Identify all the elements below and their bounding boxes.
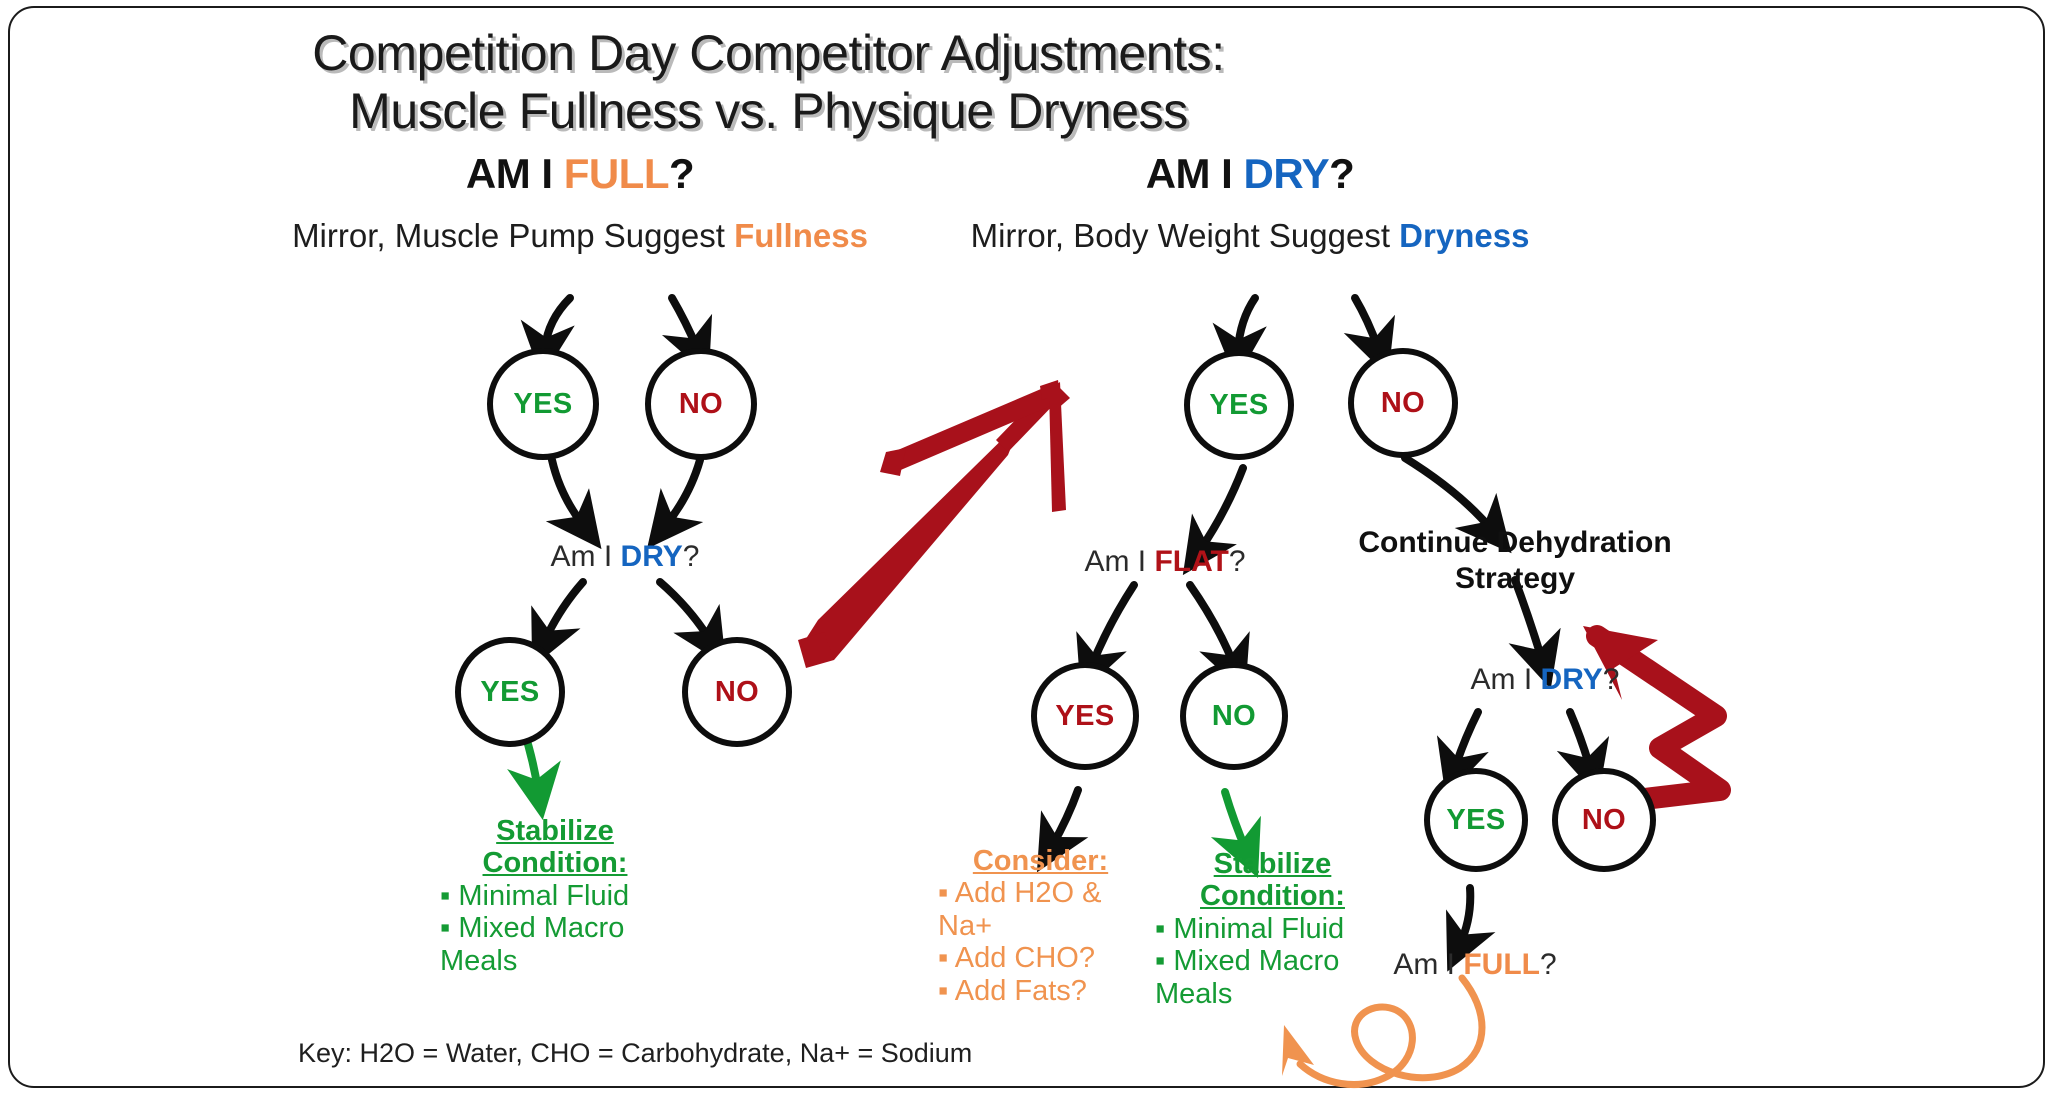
left-level2-no-label: NO [715,676,759,709]
right-flat-no-label: NO [1212,700,1256,733]
left-level2-yes-label: YES [480,676,539,709]
right-flat-no-circle[interactable]: NO [1180,662,1288,770]
right-dry-yes-circle[interactable]: YES [1424,768,1528,872]
consider-item-2: Na+ [938,910,1143,942]
right-branch-subtitle-prefix: Mirror, Body Weight Suggest [971,217,1400,254]
left-question-dry-keyword: DRY [621,540,683,573]
right-stabilize-item-3: Meals [1155,978,1390,1010]
left-branch-heading: AM I FULL? [330,150,830,198]
right-continue-dehydration-line-1: Continue Dehydration [1358,526,1671,559]
right-flat-yes-label: YES [1055,700,1114,733]
arrow-left-dry-to-no [660,582,710,640]
arrow-middle-yes-to-consider [1052,790,1078,846]
left-question-dry-prefix: Am I [551,540,621,573]
right-branch-heading-prefix: AM I [1146,150,1244,197]
arrow-right-sub-to-no [1355,298,1378,348]
left-outcome-item-2: ▪ Mixed Macro [440,912,670,944]
left-level1-yes-label: YES [513,388,572,421]
arrow-right-yes-to-full [1460,888,1470,944]
consider-item-4: ▪ Add Fats? [938,975,1143,1007]
arrow-right-dry-to-no [1570,712,1590,768]
right-question-dry-keyword: DRY [1541,663,1603,696]
consider-callout: Consider: ▪ Add H2O & Na+ ▪ Add CHO? ▪ A… [938,845,1143,1007]
right-branch-heading-keyword: DRY [1244,150,1330,197]
left-branch-heading-prefix: AM I [466,150,564,197]
arrow-right-flat-to-no [1190,585,1234,665]
right-question-flat-suffix: ? [1229,545,1246,578]
page-title: Competition Day Competitor Adjustments: … [0,24,1537,140]
left-branch-subtitle: Mirror, Muscle Pump Suggest Fullness [250,217,910,255]
right-stabilize-item-2: ▪ Mixed Macro [1155,945,1390,977]
infographic-canvas: Competition Day Competitor Adjustments: … [0,0,2053,1096]
arrow-left-sub-to-yes [545,298,570,348]
arrow-right-yes-to-flat [1200,468,1243,550]
right-question-flat: Am I FLAT? [1040,545,1290,579]
left-outcome-item-1: ▪ Minimal Fluid [440,880,670,912]
right-flat-yes-circle[interactable]: YES [1031,662,1139,770]
consider-item-1: ▪ Add H2O & [938,877,1143,909]
right-level1-no-circle[interactable]: NO [1348,348,1458,458]
right-branch-subtitle-keyword: Dryness [1399,217,1529,254]
left-outcome-stabilize: Stabilize Condition: ▪ Minimal Fluid ▪ M… [440,815,670,977]
arrow-left-no-to-dry [666,460,700,525]
right-stabilize-title-line-1: Stabilize [1155,848,1390,880]
left-question-dry-suffix: ? [683,540,700,573]
right-continue-dehydration-note: Continue Dehydration Strategy [1335,525,1695,597]
right-branch-heading-suffix: ? [1329,150,1354,197]
right-question-dry-suffix: ? [1603,663,1620,696]
right-continue-dehydration-line-2: Strategy [1455,562,1575,595]
arrow-left-sub-to-no [672,298,697,348]
right-level1-no-label: NO [1381,387,1425,420]
arrow-green-middle-no-to-stabilize [1225,792,1246,850]
right-question-dry-prefix: Am I [1471,663,1541,696]
arrow-right-sub-to-yes [1238,298,1255,350]
arrow-right-dry-to-yes [1455,712,1478,768]
arrow-left-yes-to-dry [552,460,583,525]
right-dry-no-label: NO [1582,804,1626,837]
left-level2-no-circle[interactable]: NO [682,637,792,747]
right-stabilize-item-1: ▪ Minimal Fluid [1155,913,1390,945]
left-branch-heading-suffix: ? [669,150,694,197]
right-level1-yes-label: YES [1209,389,1268,422]
left-level1-no-circle[interactable]: NO [645,348,757,460]
right-question-full-keyword: FULL [1463,948,1540,981]
right-question-flat-prefix: Am I [1084,545,1154,578]
left-branch-subtitle-prefix: Mirror, Muscle Pump Suggest [292,217,734,254]
left-outcome-title-line-1: Stabilize [440,815,670,847]
right-dry-yes-label: YES [1446,804,1505,837]
right-level1-yes-circle[interactable]: YES [1184,350,1294,460]
right-question-dry: Am I DRY? [1420,663,1670,697]
right-stabilize-callout: Stabilize Condition: ▪ Minimal Fluid ▪ M… [1155,848,1390,1010]
right-question-full-suffix: ? [1540,948,1557,981]
left-level2-yes-circle[interactable]: YES [455,637,565,747]
left-branch-subtitle-keyword: Fullness [734,217,868,254]
red-brush-arrow-center [798,380,1070,668]
consider-title: Consider: [938,845,1143,877]
arrow-left-dry-to-yes [545,582,583,640]
right-question-flat-keyword: FLAT [1154,545,1228,578]
left-level1-no-label: NO [679,388,723,421]
page-title-line-1: Competition Day Competitor Adjustments: [0,24,1537,82]
arrow-right-flat-to-yes [1092,585,1134,665]
orange-loop-arrowhead [1282,1025,1314,1076]
right-branch-subtitle: Mirror, Body Weight Suggest Dryness [920,217,1580,255]
arrow-right-no-to-dehydration [1405,458,1492,530]
consider-item-3: ▪ Add CHO? [938,942,1143,974]
left-question-dry: Am I DRY? [500,540,750,574]
right-branch-heading: AM I DRY? [1000,150,1500,198]
legend-key-line: Key: H2O = Water, CHO = Carbohydrate, Na… [298,1038,972,1069]
left-level1-yes-circle[interactable]: YES [487,348,599,460]
page-title-line-2: Muscle Fullness vs. Physique Dryness [0,82,1537,140]
right-question-full-prefix: Am I [1393,948,1463,981]
left-outcome-title-line-2: Condition: [440,847,670,879]
left-outcome-item-3: Meals [440,945,670,977]
right-stabilize-title-line-2: Condition: [1155,880,1390,912]
right-dry-no-circle[interactable]: NO [1552,768,1656,872]
left-branch-heading-keyword: FULL [564,150,669,197]
